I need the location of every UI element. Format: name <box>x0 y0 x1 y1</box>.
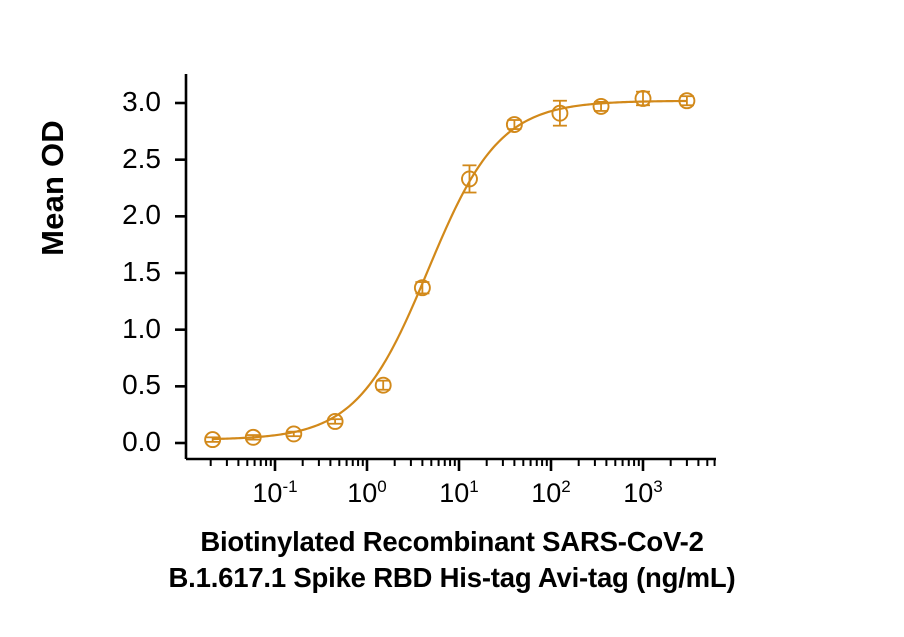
x-axis-title-line2: B.1.617.1 Spike RBD His-tag Avi-tag (ng/… <box>0 560 904 596</box>
y-tick-label: 2.5 <box>91 145 161 173</box>
x-tick-label: 101 <box>409 480 509 507</box>
y-axis-ticks <box>175 103 186 443</box>
fit-curve <box>213 101 687 439</box>
error-bars <box>206 92 694 442</box>
x-axis-ticks <box>211 459 715 471</box>
x-axis-title: Biotinylated Recombinant SARS-CoV-2 B.1.… <box>0 524 904 596</box>
x-tick-label: 103 <box>593 480 693 507</box>
x-tick-label: 100 <box>317 480 417 507</box>
x-axis-title-line1: Biotinylated Recombinant SARS-CoV-2 <box>0 524 904 560</box>
y-tick-label: 0.5 <box>91 371 161 399</box>
y-tick-label: 1.0 <box>91 315 161 343</box>
y-tick-label: 3.0 <box>91 88 161 116</box>
x-tick-label: 10-1 <box>225 480 325 507</box>
x-tick-label: 102 <box>501 480 601 507</box>
chart-figure: Mean OD 0.00.51.01.52.02.53.0 10-1100101… <box>0 0 904 637</box>
y-tick-label: 0.0 <box>91 428 161 456</box>
data-points <box>205 91 694 447</box>
y-tick-label: 1.5 <box>91 258 161 286</box>
plot-area: Mean OD 0.00.51.01.52.02.53.0 10-1100101… <box>0 0 904 637</box>
y-tick-label: 2.0 <box>91 201 161 229</box>
